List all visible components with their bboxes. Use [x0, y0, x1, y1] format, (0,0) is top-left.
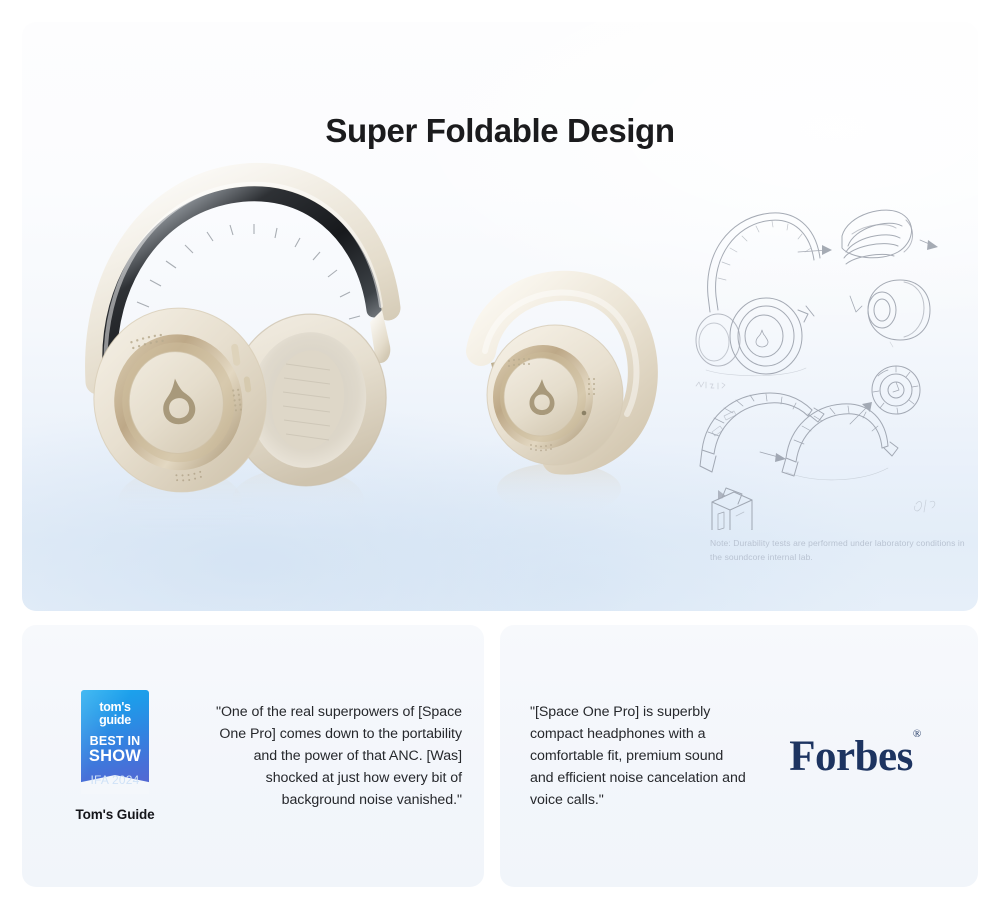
headphones-open-view — [62, 150, 462, 550]
forbes-logo-text: Forbes — [789, 733, 913, 780]
award-line-2: SHOW — [89, 748, 141, 765]
headband-folded-sketch — [842, 210, 913, 264]
earcup-side-sketch — [868, 280, 930, 347]
headband-segments-sketch — [700, 393, 824, 472]
forbes-logo: Forbes® — [789, 735, 920, 778]
forbes-brand: Forbes® — [750, 735, 960, 778]
review-card-forbes: "[Space One Pro] is superbly compact hea… — [500, 625, 978, 887]
earcup-top-sketch — [872, 366, 920, 414]
wordmark-line-2: guide — [99, 714, 131, 727]
award-line-1: BEST IN — [90, 735, 141, 749]
wordmark-line-1: tom's — [99, 701, 131, 714]
toms-guide-wordmark: tom's guide — [99, 701, 131, 727]
review-card-toms-guide: tom's guide BEST IN SHOW IFA 2024 Tom's … — [22, 625, 484, 887]
registered-trademark-icon: ® — [913, 728, 921, 740]
headphones-folded-view — [447, 267, 677, 517]
outlet-name-toms-guide: Tom's Guide — [75, 807, 154, 822]
durability-note: Note: Durability tests are performed und… — [710, 536, 972, 564]
sketch-signature — [914, 500, 934, 512]
toms-guide-brand: tom's guide BEST IN SHOW IFA 2024 Tom's … — [40, 690, 190, 822]
sketch-annotation — [696, 382, 725, 389]
press-quotes-row: tom's guide BEST IN SHOW IFA 2024 Tom's … — [22, 625, 978, 887]
award-event: IFA 2024 — [91, 773, 140, 787]
review-quote-forbes: "[Space One Pro] is superbly compact hea… — [530, 701, 750, 811]
headphones-unfolded-sketch — [696, 213, 820, 376]
page-title: Super Foldable Design — [22, 112, 978, 150]
hero-panel: Super Foldable Design — [22, 22, 978, 611]
review-quote-toms-guide: "One of the real superpowers of [Space O… — [190, 701, 462, 811]
design-sketches — [690, 200, 978, 530]
headband-arc-sketch — [782, 404, 898, 480]
best-in-show-badge: tom's guide BEST IN SHOW IFA 2024 — [81, 690, 149, 794]
